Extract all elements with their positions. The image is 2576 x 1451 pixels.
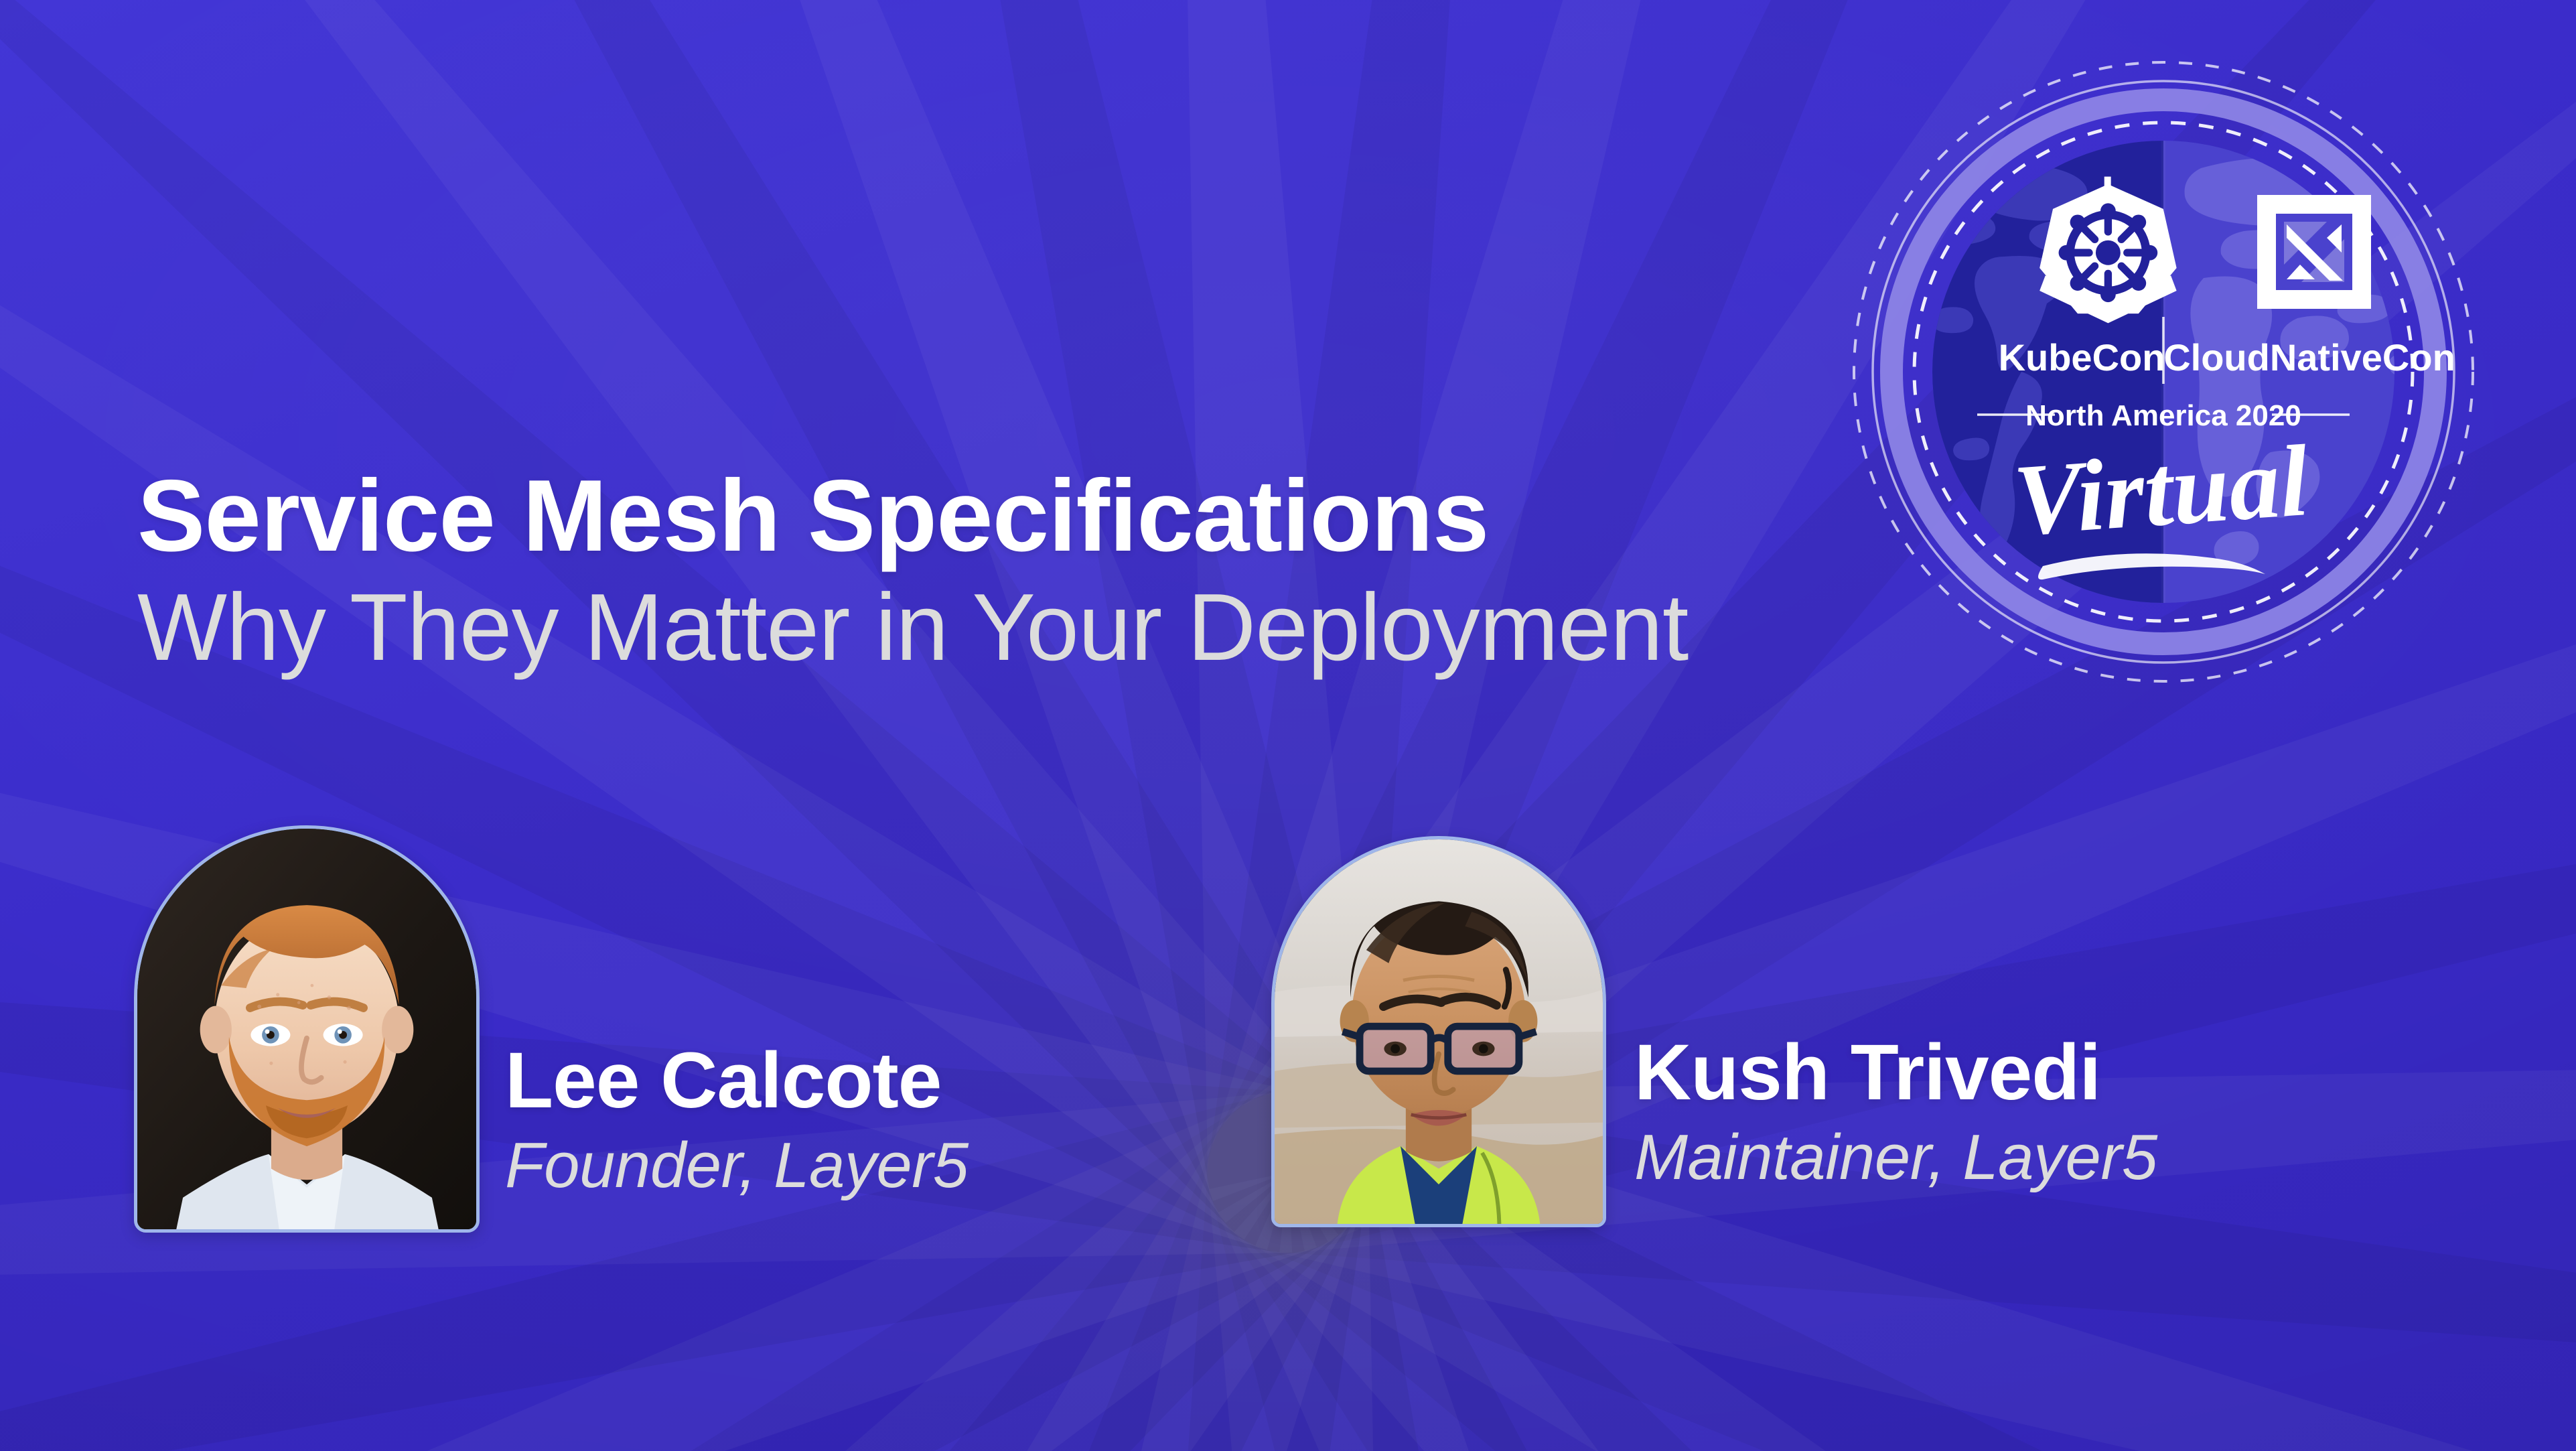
- avatar-kush-trivedi: [1271, 836, 1606, 1227]
- speaker-card-2: Kush Trivedi Maintainer, Layer5: [1271, 836, 2157, 1227]
- speaker-card-1: Lee Calcote Founder, Layer5: [134, 825, 969, 1233]
- cncf-logo-icon: [2257, 195, 2371, 309]
- speaker-role: Founder, Layer5: [505, 1131, 969, 1200]
- title-block: Service Mesh Specifications Why They Mat…: [137, 462, 1946, 681]
- speaker-info-2: Kush Trivedi Maintainer, Layer5: [1634, 1033, 2157, 1227]
- page-title: Service Mesh Specifications: [137, 462, 1946, 570]
- speaker-name: Lee Calcote: [505, 1041, 969, 1120]
- brand-kubecon: KubeCon: [1999, 336, 2165, 378]
- virtual-wordmark: Virtual: [2010, 424, 2312, 557]
- speaker-role: Maintainer, Layer5: [1634, 1123, 2157, 1192]
- headshot-illustration: [1275, 839, 1603, 1224]
- badge-graphic: KubeCon CloudNativeCon North America 202…: [1829, 37, 2498, 707]
- brand-cloudnativecon: CloudNativeCon: [2163, 336, 2455, 378]
- kubecon-cloudnativecon-badge: KubeCon CloudNativeCon North America 202…: [1829, 37, 2498, 707]
- presentation-slide: Service Mesh Specifications Why They Mat…: [0, 0, 2576, 1451]
- avatar-lee-calcote: [134, 825, 480, 1233]
- speaker-name: Kush Trivedi: [1634, 1033, 2157, 1112]
- page-subtitle: Why They Matter in Your Deployment: [137, 574, 1946, 681]
- headshot-illustration: [137, 829, 476, 1229]
- speaker-info-1: Lee Calcote Founder, Layer5: [505, 1041, 969, 1233]
